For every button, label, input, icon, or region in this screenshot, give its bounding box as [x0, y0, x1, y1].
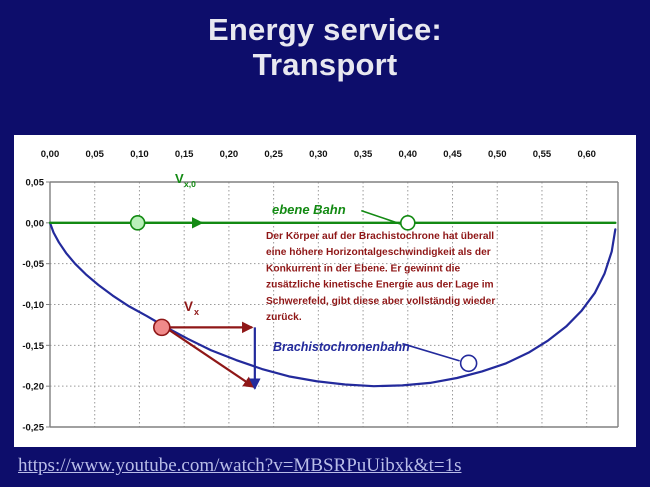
x-tick-label: 0,10	[130, 149, 149, 160]
label-ebene-bahn: ebene Bahn	[272, 202, 346, 217]
vector-arrows	[147, 223, 255, 389]
green-ball-flat-track	[131, 216, 145, 230]
y-tick-label: -0,25	[22, 423, 44, 434]
x-tick-label: 0,60	[577, 149, 596, 160]
x-tick-label: 0,15	[175, 149, 194, 160]
label-v-x: V x	[184, 299, 199, 317]
paragraph-line: Schwerefeld, gibt diese aber vollständig…	[266, 296, 495, 307]
y-tick-label: 0,00	[26, 218, 45, 229]
label-v-x0-sub: x,0	[184, 179, 196, 189]
y-tick-labels: 0,050,00-0,05-0,10-0,15-0,20-0,25	[22, 178, 50, 434]
title-line-1: Energy service:	[0, 12, 650, 47]
title-line-2: Transport	[0, 47, 650, 82]
x-tick-label: 0,40	[399, 149, 418, 160]
y-tick-label: -0,05	[22, 259, 44, 270]
y-tick-label: -0,10	[22, 300, 44, 311]
paragraph-line: Konkurrent in der Ebene. Er gewinnt die	[266, 263, 460, 274]
x-tick-label: 0,45	[443, 149, 462, 160]
red-ball-brachistochrone	[154, 319, 170, 335]
paragraph-line: zurück.	[266, 312, 302, 323]
y-tick-label: -0,20	[22, 382, 44, 393]
x-tick-label: 0,05	[85, 149, 104, 160]
slide-title: Energy service: Transport	[0, 12, 650, 83]
x-tick-label: 0,35	[354, 149, 373, 160]
y-tick-label: -0,15	[22, 341, 44, 352]
x-tick-label: 0,50	[488, 149, 507, 160]
label-v-x-sub: x	[194, 307, 199, 317]
label-brachistochronenbahn: Brachistochronenbahn	[273, 340, 410, 354]
x-tick-label: 0,30	[309, 149, 328, 160]
brachistochrone-leader	[402, 344, 459, 361]
y-tick-label: 0,05	[26, 178, 45, 189]
brachistochrone-chart: 0,000,050,100,150,200,250,300,350,400,45…	[14, 135, 636, 447]
label-v-x0: V x,0	[175, 171, 196, 189]
source-link[interactable]: https://www.youtube.com/watch?v=MBSRPuUi…	[18, 455, 461, 477]
x-tick-labels: 0,000,050,100,150,200,250,300,350,400,45…	[41, 149, 596, 160]
x-tick-label: 0,55	[533, 149, 552, 160]
label-v-x-main: V	[184, 299, 193, 314]
paragraph-line: Der Körper auf der Brachistochrone hat ü…	[266, 231, 494, 242]
x-tick-label: 0,25	[264, 149, 283, 160]
label-v-x0-main: V	[175, 171, 184, 186]
white-circle-brachistochrone	[461, 355, 477, 371]
explanation-paragraph: Der Körper auf der Brachistochrone hat ü…	[266, 231, 495, 323]
green-circle-flat-track	[401, 216, 415, 230]
v-resultant-red-diagonal-arrow	[169, 330, 254, 387]
paragraph-line: zusätzliche kinetische Energie aus der L…	[266, 280, 494, 291]
chart-panel: 0,000,050,100,150,200,250,300,350,400,45…	[14, 135, 636, 447]
x-tick-label: 0,00	[41, 149, 60, 160]
paragraph-line: eine höhere Horizontalgeschwindigkeit al…	[266, 247, 491, 258]
x-tick-label: 0,20	[220, 149, 239, 160]
